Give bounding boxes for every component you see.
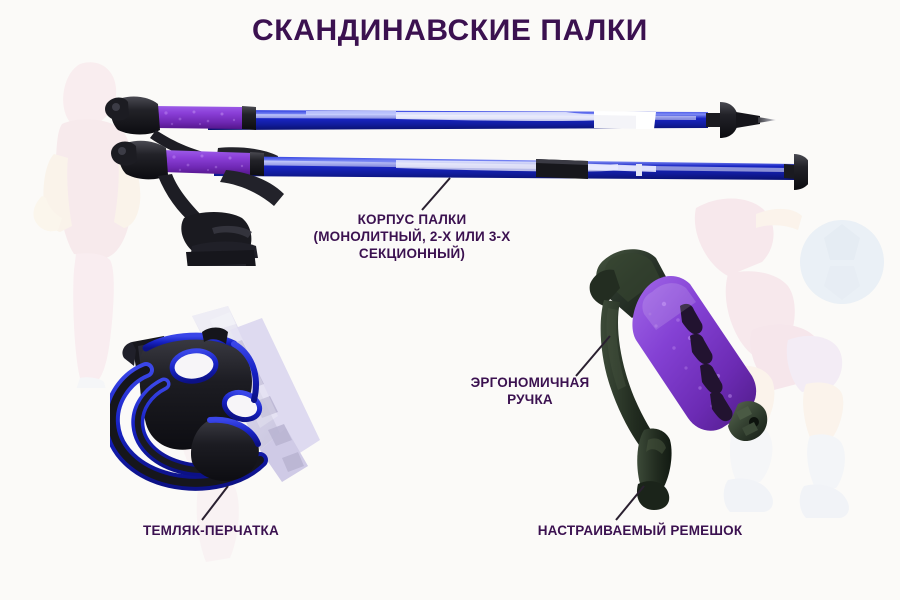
handle-ferrule xyxy=(728,401,767,441)
callout-ergonomic-grip: ЭРГОНОМИЧНАЯ РУЧКА xyxy=(440,374,620,408)
leader-line-adjustable-strap xyxy=(612,484,648,522)
glove-body xyxy=(112,328,263,483)
leader-line-pole-body xyxy=(418,176,454,212)
callout-glove-strap: ТЕМЛЯК-ПЕРЧАТКА xyxy=(108,522,314,539)
leader-line-ergonomic-grip xyxy=(572,334,614,378)
leader-line-glove-strap xyxy=(198,484,232,522)
lower-pole-tip xyxy=(784,154,808,190)
foam-grip-sleeve xyxy=(192,306,320,482)
glove-strap-photo xyxy=(110,300,410,500)
walker-figure-left-watermark xyxy=(18,58,168,388)
handle-top-cap xyxy=(590,249,672,318)
purple-cork-grip xyxy=(632,276,756,431)
infographic-canvas: СКАНДИНАВСКИЕ ПАЛКИ КОРПУС ПАЛКИ (МОНОЛИ… xyxy=(0,0,900,600)
upper-pole xyxy=(105,97,776,170)
callout-pole-body: КОРПУС ПАЛКИ (МОНОЛИТНЫЙ, 2-Х ИЛИ 3-Х СЕ… xyxy=(283,211,541,262)
page-title: СКАНДИНАВСКИЕ ПАЛКИ xyxy=(0,14,900,48)
callout-adjustable-strap: НАСТРАИВАЕМЫЙ РЕМЕШОК xyxy=(494,522,786,539)
footballer-figure-right-watermark xyxy=(690,190,900,520)
